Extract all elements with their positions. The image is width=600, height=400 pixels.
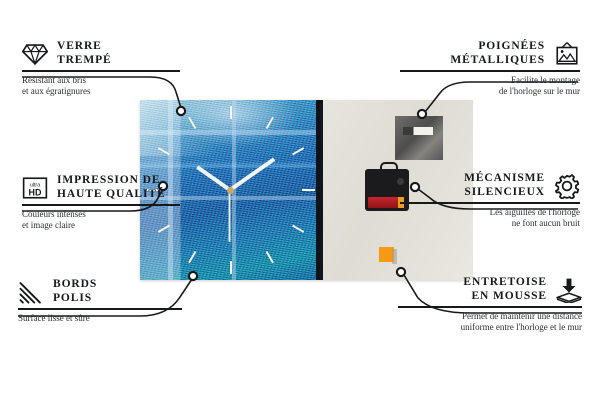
callout-title: TREMPÉ xyxy=(57,54,112,68)
glass-reflection-line xyxy=(140,130,320,135)
picture-frame-hanger-icon xyxy=(554,41,580,67)
callout-description: uniforme entre l'horloge et le mur xyxy=(396,322,582,334)
callout-bords-polis: BORDS POLIS Surface lisse et sûre xyxy=(18,278,184,324)
callout-rule xyxy=(18,308,182,310)
gear-icon xyxy=(554,173,580,199)
polished-edge-icon xyxy=(18,279,44,305)
clock-hour-marker xyxy=(230,261,232,274)
callout-rule xyxy=(400,70,580,72)
callout-description: Surface lisse et sûre xyxy=(18,313,184,325)
clock-hour-marker xyxy=(266,251,274,263)
callout-description: Permet de maintenir une distance xyxy=(396,311,582,323)
callout-rule xyxy=(22,204,180,206)
callout-title: HAUTE QUALITÉ xyxy=(57,188,166,202)
callout-description: Facilite le montage xyxy=(398,75,580,87)
callout-mecanisme-silencieux: MÉCANISME SILENCIEUX Les aiguilles de l'… xyxy=(398,172,580,230)
clock-hour-hand xyxy=(196,165,231,191)
callout-title: SILENCIEUX xyxy=(464,186,545,200)
callout-description: et image claire xyxy=(22,220,182,232)
clock-second-hand xyxy=(229,190,231,242)
callout-description: Résistant aux bris xyxy=(22,75,182,87)
clock-hour-marker xyxy=(266,117,274,129)
ultra-hd-icon: ultra HD xyxy=(22,175,48,201)
clock-hour-marker xyxy=(188,117,196,129)
callout-description: Les aiguilles de l'horloge xyxy=(398,207,580,219)
clock-center-cap xyxy=(227,187,234,194)
infographic-canvas: VERRE TREMPÉ Résistant aux bris et aux é… xyxy=(0,0,600,400)
callout-title: ENTRETOISE xyxy=(463,276,547,290)
metal-handle-plate xyxy=(395,116,443,160)
callout-entretoise-en-mousse: ENTRETOISE EN MOUSSE Permet de maintenir… xyxy=(396,276,582,334)
handle-slot xyxy=(403,127,433,135)
callout-title: POIGNÉES xyxy=(450,40,545,54)
foam-spacer xyxy=(379,247,394,262)
svg-text:HD: HD xyxy=(29,187,42,197)
callout-poignees-metalliques: POIGNÉES MÉTALLIQUES Facilite le montage… xyxy=(398,40,580,98)
clock-minute-hand xyxy=(229,157,276,191)
callout-description: et aux égratignures xyxy=(22,86,182,98)
clock-hour-marker xyxy=(158,147,170,155)
callout-title: MÉTALLIQUES xyxy=(450,54,545,68)
clock-hour-marker xyxy=(230,106,232,119)
callout-description: Couleurs intenses xyxy=(22,209,182,221)
callout-title: BORDS xyxy=(53,278,97,292)
callout-title: VERRE xyxy=(57,40,112,54)
clock-hour-marker xyxy=(292,147,304,155)
glass-glare xyxy=(140,100,260,156)
callout-verre-trempe: VERRE TREMPÉ Résistant aux bris et aux é… xyxy=(22,40,182,98)
callout-title: POLIS xyxy=(53,292,97,306)
diamond-icon xyxy=(22,41,48,67)
callout-title: EN MOUSSE xyxy=(463,290,547,304)
callout-rule xyxy=(400,202,580,204)
clock-hour-marker xyxy=(292,225,304,233)
callout-title: IMPRESSION DE xyxy=(57,174,166,188)
callout-rule xyxy=(398,306,582,308)
callout-description: de l'horloge sur le mur xyxy=(398,86,580,98)
glass-reflection-line xyxy=(232,100,236,280)
callout-description: ne font aucun bruit xyxy=(398,218,580,230)
mechanism-hanger-tab xyxy=(380,162,398,173)
callout-rule xyxy=(22,70,180,72)
foam-spacer-arrow-icon xyxy=(556,277,582,303)
clock-hour-marker xyxy=(188,251,196,263)
callout-impression-haute-qualite: ultra HD IMPRESSION DE HAUTE QUALITÉ Cou… xyxy=(22,174,182,232)
clock-hour-marker xyxy=(302,189,315,191)
callout-title: MÉCANISME xyxy=(464,172,545,186)
